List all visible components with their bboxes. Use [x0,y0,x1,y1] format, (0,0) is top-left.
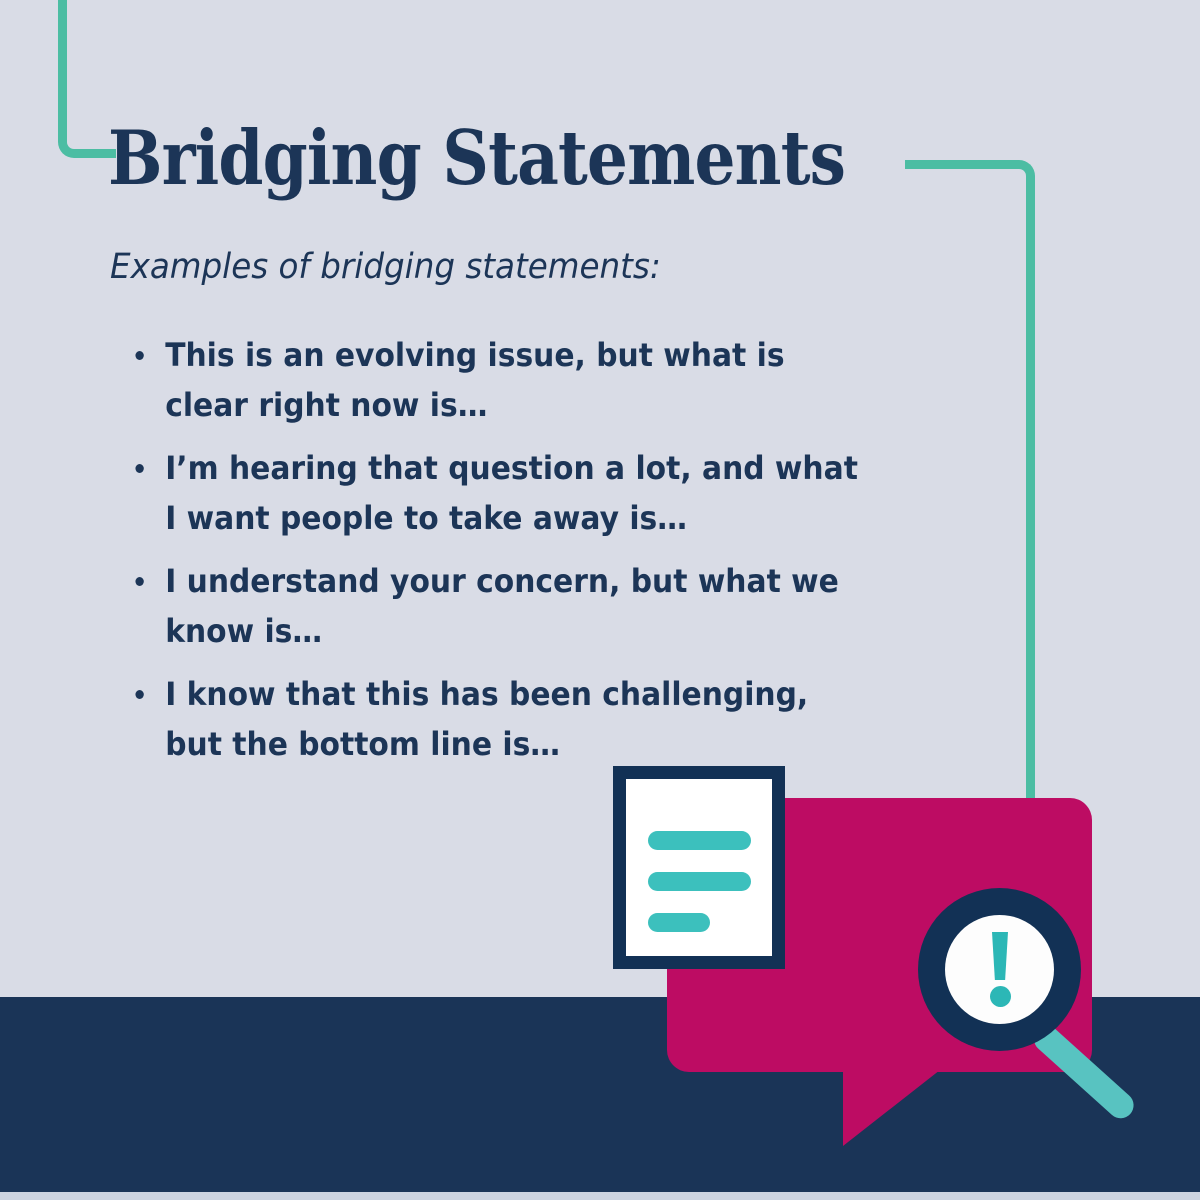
list-item: I know that this has been challenging, b… [128,669,872,769]
page-subtitle: Examples of bridging statements: [110,245,661,289]
bottom-light-strip [0,1192,1200,1200]
list-item: I’m hearing that question a lot, and wha… [128,443,872,543]
bullet-list: This is an evolving issue, but what is c… [128,330,928,782]
bullet-dot-icon [135,690,143,699]
list-item-label: I’m hearing that question a lot, and wha… [165,443,872,543]
page-title: Bridging Statements [108,113,845,203]
document-line [648,831,751,850]
bottom-navy-band [0,997,1200,1192]
list-item: I understand your concern, but what we k… [128,556,872,656]
list-item: This is an evolving issue, but what is c… [128,330,872,430]
exclamation-icon-bar [992,932,1008,980]
list-item-label: I know that this has been challenging, b… [165,669,872,769]
slide-canvas: Bridging Statements Examples of bridging… [0,0,1200,1200]
bullet-dot-icon [135,464,143,473]
list-item-label: This is an evolving issue, but what is c… [165,330,872,430]
list-item-label: I understand your concern, but what we k… [165,556,872,656]
document-icon [613,766,785,969]
document-line [648,913,710,932]
bullet-dot-icon [135,351,143,360]
document-line [648,872,751,891]
bullet-dot-icon [135,577,143,586]
